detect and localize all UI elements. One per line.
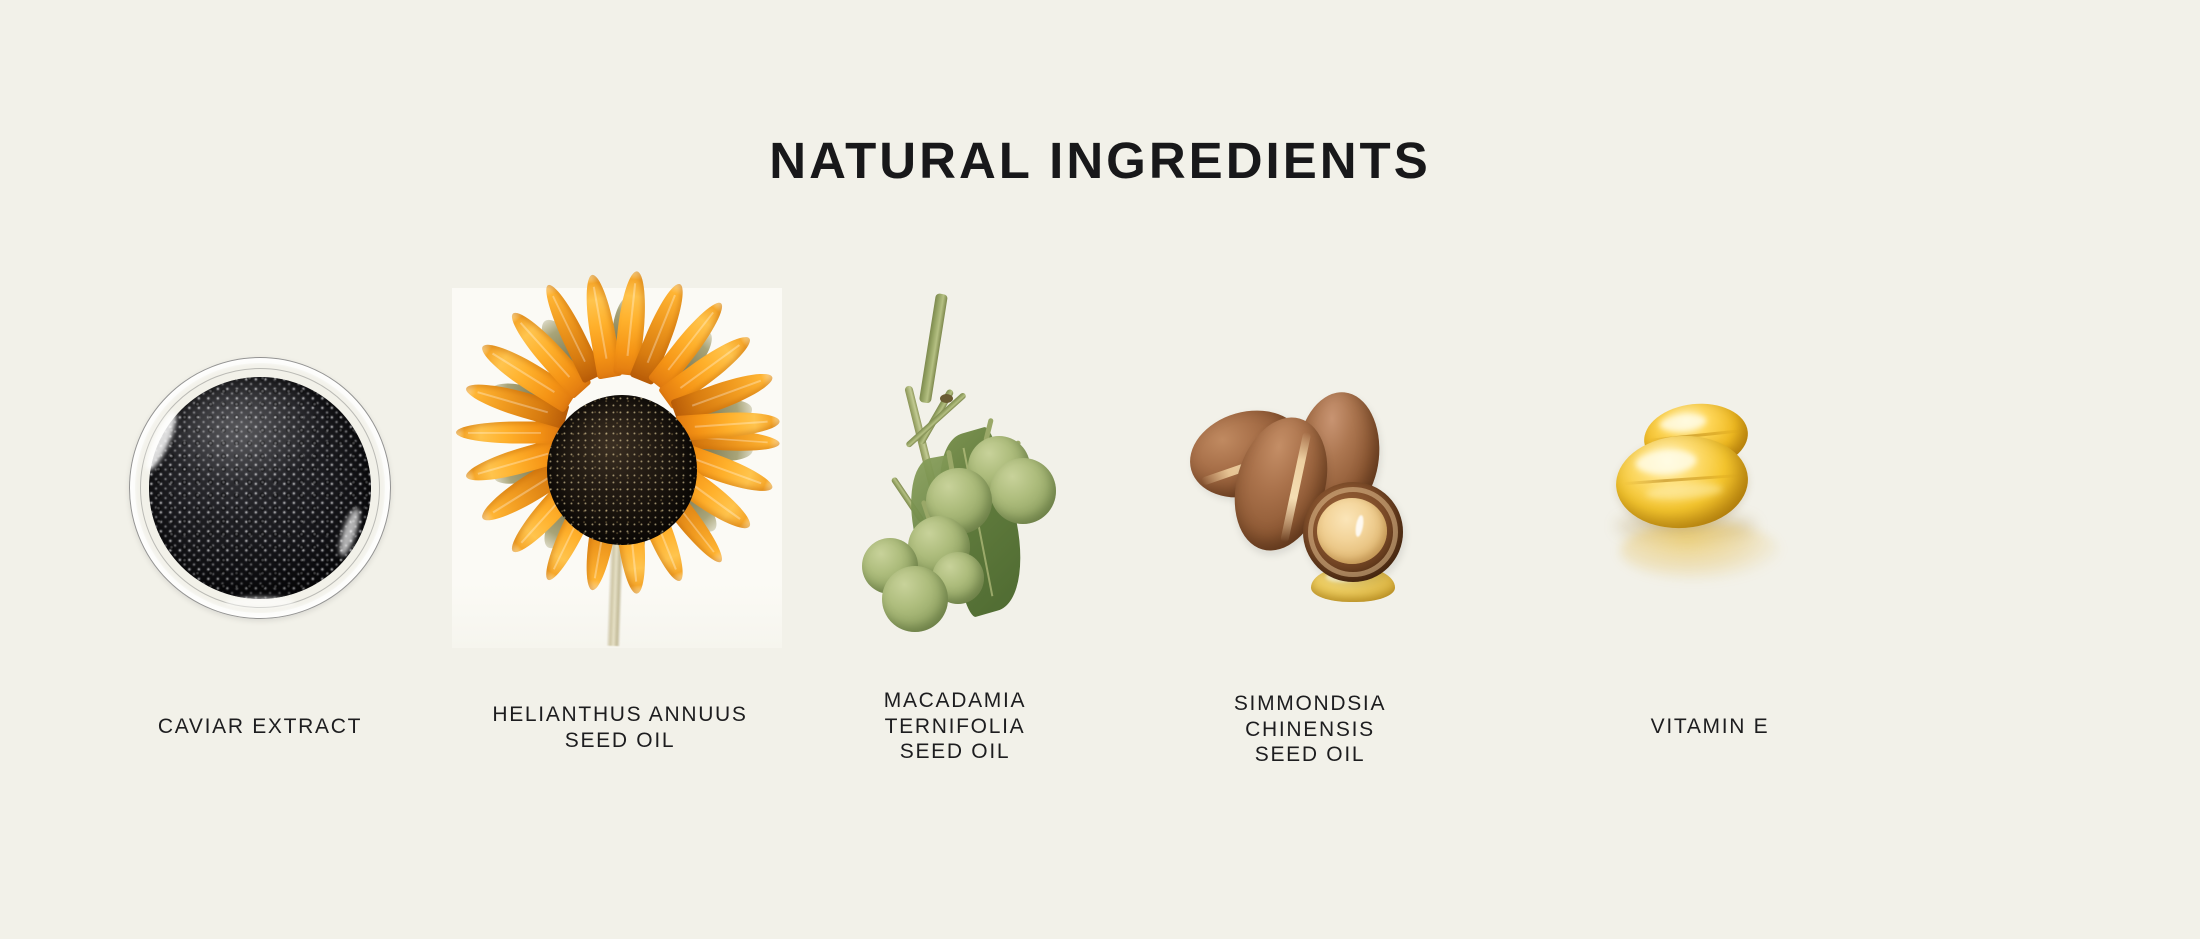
ingredient-label-macadamia-ternifolia-seed-oil: MACADAMIA TERNIFOLIA SEED OIL — [800, 688, 1110, 765]
ingredient-item-simmondsia-chinensis-seed-oil[interactable]: SIMMONDSIA CHINENSIS SEED OIL — [1110, 0, 1510, 939]
macadamia-branch-photo — [800, 0, 1110, 939]
ingredient-item-helianthus-annuus-seed-oil[interactable]: HELIANTHUS ANNUUS SEED OIL — [440, 0, 800, 939]
ingredient-label-helianthus-annuus-seed-oil: HELIANTHUS ANNUUS SEED OIL — [440, 702, 800, 753]
ingredient-label-caviar-extract: CAVIAR EXTRACT — [110, 714, 410, 740]
ingredient-item-caviar-extract[interactable]: CAVIAR EXTRACT — [110, 0, 410, 939]
caviar-bowl-photo — [110, 0, 410, 939]
ingredient-item-macadamia-ternifolia-seed-oil[interactable]: MACADAMIA TERNIFOLIA SEED OIL — [800, 0, 1110, 939]
ingredients-row: CAVIAR EXTRACT — [0, 0, 2200, 939]
sunflower-photo — [440, 0, 800, 939]
ingredient-label-vitamin-e: VITAMIN E — [1520, 714, 1900, 740]
vitamin-e-capsules-photo — [1520, 0, 1900, 939]
ingredient-label-simmondsia-chinensis-seed-oil: SIMMONDSIA CHINENSIS SEED OIL — [1110, 691, 1510, 768]
ingredient-item-vitamin-e[interactable]: VITAMIN E — [1520, 0, 1900, 939]
jojoba-seeds-photo — [1110, 0, 1510, 939]
natural-ingredients-page: NATURAL INGREDIENTS — [0, 0, 2200, 939]
